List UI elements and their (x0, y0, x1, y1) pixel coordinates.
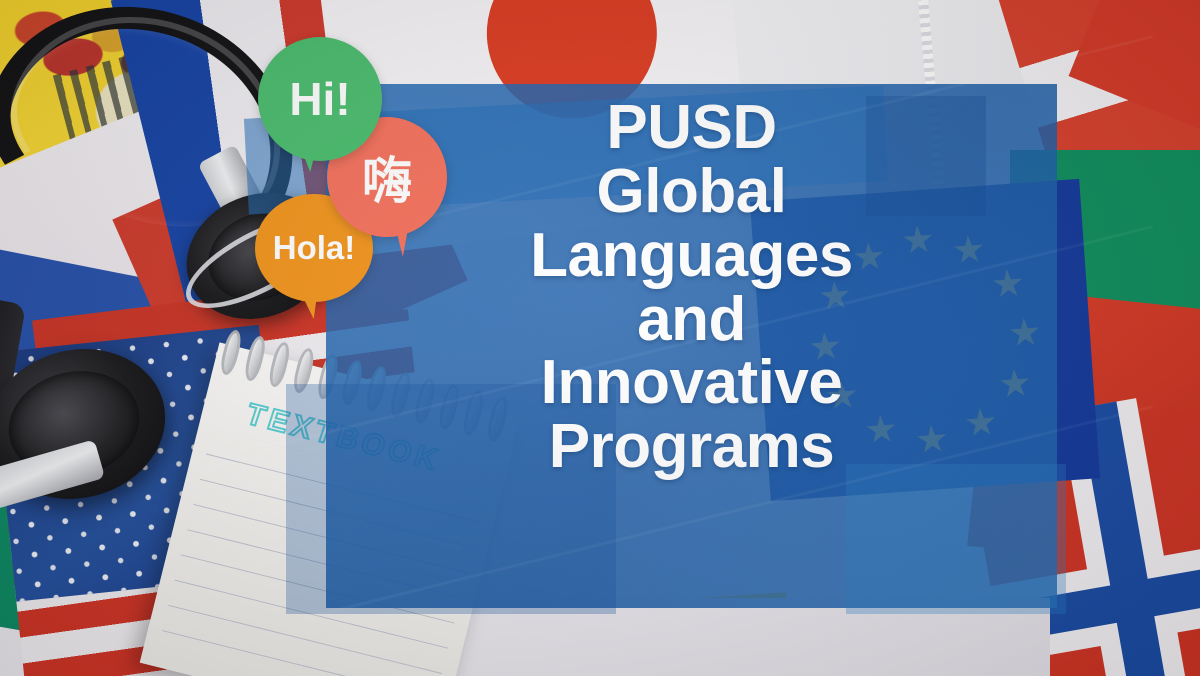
headline-line-3: Languages (326, 224, 1057, 288)
speech-bubble-hi: Hi! (258, 37, 382, 161)
headline-line-5: Innovative (326, 351, 1057, 415)
notebook-coil (242, 334, 268, 382)
headline-line-4: and (326, 288, 1057, 352)
panel-overlay-square-d (846, 464, 1066, 614)
speech-bubble-hai-label: 嗨 (362, 141, 412, 213)
speech-bubble-hola-tail (268, 269, 320, 319)
speech-bubble-hi-label: Hi! (289, 72, 350, 126)
banner-graphic: TEXTBOOK PUSD Global Languages and Innov… (0, 0, 1200, 676)
speech-bubble-hola-label: Hola! (273, 229, 356, 267)
headline-line-6: Programs (326, 415, 1057, 479)
notebook-coil (267, 340, 293, 388)
